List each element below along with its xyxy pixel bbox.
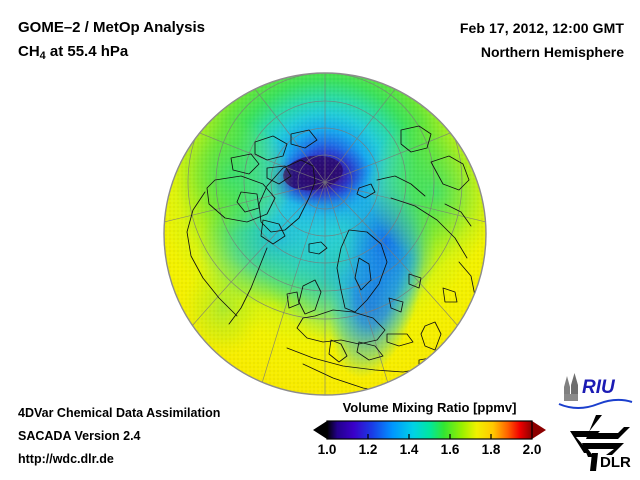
subtitle-subscript: 4 <box>40 50 46 62</box>
footer-credits: 4DVar Chemical Data Assimilation SACADA … <box>18 402 220 471</box>
colorbar-tick-label: 1.6 <box>441 442 460 457</box>
orthographic-projection <box>163 72 487 396</box>
colorbar-extend-low <box>313 421 327 439</box>
colorbar-tick-label: 1.2 <box>359 442 378 457</box>
globe-map <box>163 72 487 396</box>
colorbar: Volume Mixing Ratio [ppmv] 1.01.21.41.61… <box>313 400 546 462</box>
riu-logo: RIU <box>556 371 634 411</box>
colorbar-extend-high <box>532 421 546 439</box>
riu-logo-svg: RIU <box>556 371 634 411</box>
riu-wordmark: RIU <box>582 377 616 398</box>
colorbar-tick-label: 1.0 <box>318 442 337 457</box>
colorbar-tick-label: 1.4 <box>400 442 419 457</box>
dlr-logo: DLR <box>566 413 634 473</box>
region-label: Northern Hemisphere <box>460 40 624 64</box>
page-subtitle: CH4 at 55.4 hPa <box>18 40 205 65</box>
colorbar-tick-label: 2.0 <box>523 442 542 457</box>
timestamp: Feb 17, 2012, 12:00 GMT <box>460 16 624 40</box>
colorbar-title: Volume Mixing Ratio [ppmv] <box>313 400 546 416</box>
riu-wave <box>559 400 632 408</box>
footer-url[interactable]: http://wdc.dlr.de <box>18 448 220 471</box>
colorbar-bar <box>313 420 546 440</box>
header-left: GOME–2 / MetOp Analysis CH4 at 55.4 hPa <box>18 16 205 65</box>
footer-method: 4DVar Chemical Data Assimilation <box>18 402 220 425</box>
page-title: GOME–2 / MetOp Analysis <box>18 16 205 40</box>
colorbar-ramp <box>327 421 532 439</box>
colorbar-tick-labels: 1.01.21.41.61.82.0 <box>313 442 546 462</box>
subtitle-level: at 55.4 hPa <box>46 43 129 60</box>
subtitle-species: CH <box>18 43 40 60</box>
footer-version: SACADA Version 2.4 <box>18 425 220 448</box>
figure-canvas: GOME–2 / MetOp Analysis CH4 at 55.4 hPa … <box>0 0 640 480</box>
dlr-wordmark: DLR <box>600 454 631 471</box>
header-right: Feb 17, 2012, 12:00 GMT Northern Hemisph… <box>460 16 624 64</box>
cathedral-icon <box>564 373 578 401</box>
colorbar-svg <box>313 420 546 440</box>
colorbar-tick-label: 1.8 <box>482 442 501 457</box>
dlr-logo-svg: DLR <box>566 413 634 473</box>
